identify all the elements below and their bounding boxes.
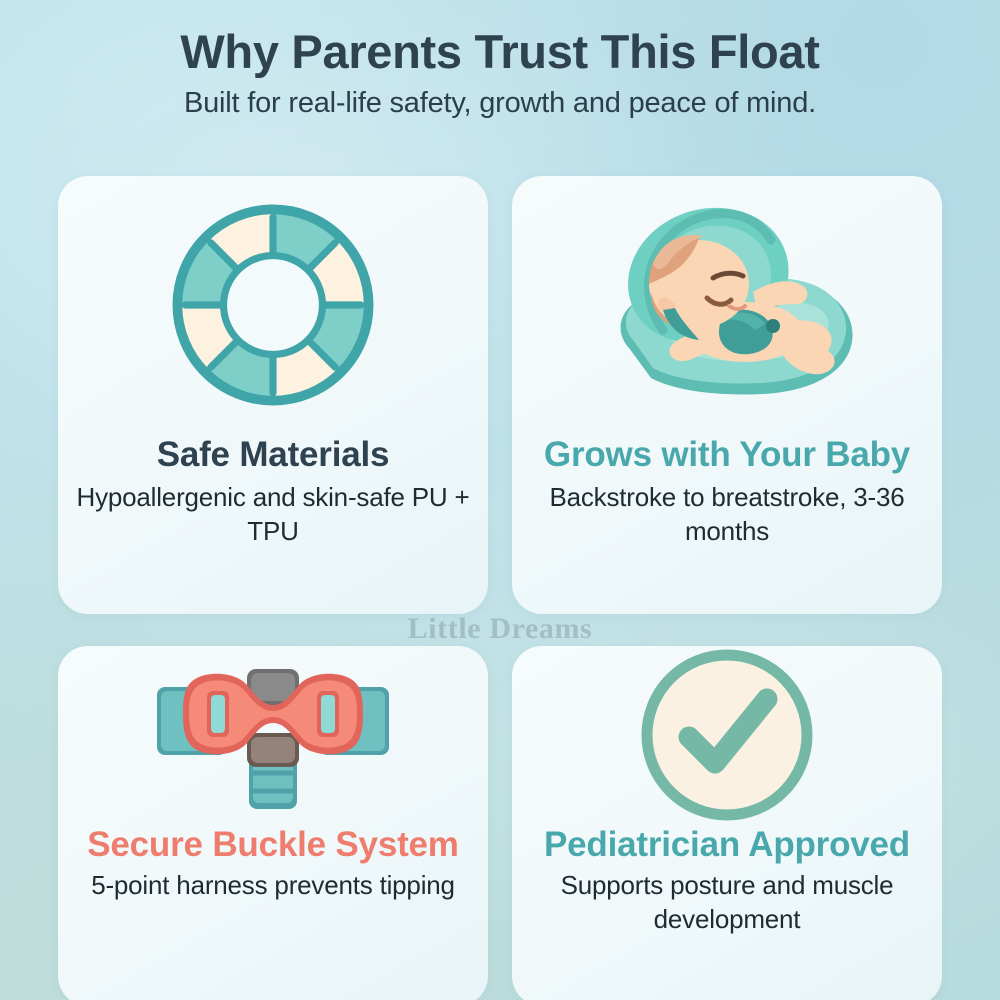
feature-card-pediatrician-approved[interactable]: Pediatrician Approved Supports posture a…: [512, 646, 942, 1000]
page-title: Why Parents Trust This Float: [0, 26, 1000, 79]
buckle-icon: [58, 646, 488, 824]
card-title: Grows with Your Baby: [530, 434, 924, 475]
feature-card-grid: Safe Materials Hypoallergenic and skin-s…: [58, 176, 942, 1000]
page-subtitle: Built for real-life safety, growth and p…: [0, 87, 1000, 120]
card-description: 5-point harness prevents tipping: [75, 869, 471, 902]
card-description: Supports posture and muscle development: [512, 869, 942, 936]
feature-card-safe-materials[interactable]: Safe Materials Hypoallergenic and skin-s…: [58, 176, 488, 614]
baby-float-canopy-icon: [512, 176, 942, 434]
card-description: Backstroke to breatstroke, 3-36 months: [512, 481, 942, 548]
card-title: Pediatrician Approved: [530, 824, 924, 865]
card-description: Hypoallergenic and skin-safe PU + TPU: [58, 481, 488, 548]
card-title: Secure Buckle System: [73, 824, 472, 865]
header: Why Parents Trust This Float Built for r…: [0, 0, 1000, 120]
card-title: Safe Materials: [143, 434, 404, 475]
check-circle-icon: [512, 646, 942, 824]
feature-card-secure-buckle[interactable]: Secure Buckle System 5-point harness pre…: [58, 646, 488, 1000]
feature-card-grows-with-baby[interactable]: Grows with Your Baby Backstroke to breat…: [512, 176, 942, 614]
life-ring-icon: [58, 176, 488, 434]
